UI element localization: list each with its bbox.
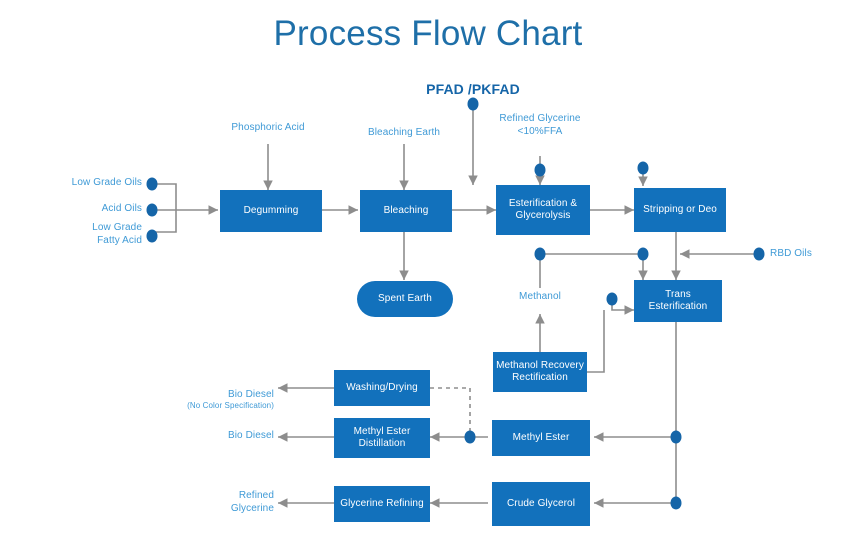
box-glycerine-refining[interactable]: Glycerine Refining [334,486,430,522]
label-rbd-oils: RBD Oils [770,248,850,261]
label-bleaching-earth: Bleaching Earth [344,127,464,140]
box-spent-earth[interactable]: Spent Earth [357,281,453,317]
label-low-grade-oils: Low Grade Oils [48,177,142,190]
label-refined-glycerine: Refined Glycerine [178,490,274,515]
label-refined-glycerine-ffa: Refined Glycerine <10%FFA [482,113,598,138]
box-washing-drying[interactable]: Washing/Drying [334,370,430,406]
label-phosphoric-acid: Phosphoric Acid [206,122,330,135]
box-stripping-or-deo[interactable]: Stripping or Deo [634,188,726,232]
box-esterification-glycerolysis[interactable]: Esterification & Glycerolysis [496,185,590,235]
label-bio-diesel-no-color-sub: (No Color Specification) [178,401,274,411]
box-bleaching[interactable]: Bleaching [360,190,452,232]
label-pfad-pkfad: PFAD /PKFAD [398,81,548,99]
box-trans-esterification[interactable]: Trans Esterification [634,280,722,322]
label-methanol: Methanol [494,291,586,304]
box-crude-glycerol[interactable]: Crude Glycerol [492,482,590,526]
box-methyl-ester[interactable]: Methyl Ester [492,420,590,456]
box-methyl-ester-distillation[interactable]: Methyl Ester Distillation [334,418,430,458]
label-bio-diesel: Bio Diesel [178,430,274,443]
label-low-grade-fatty-acid: Low Grade Fatty Acid [48,222,142,247]
label-bio-diesel-no-color: Bio Diesel (No Color Specification) [178,376,274,424]
flow-chart-canvas: Process Flow Chart [0,0,856,545]
box-degumming[interactable]: Degumming [220,190,322,232]
box-methanol-recovery-rectification[interactable]: Methanol Recovery Rectification [493,352,587,392]
label-bio-diesel-no-color-main: Bio Diesel [228,389,274,400]
label-acid-oils: Acid Oils [48,203,142,216]
